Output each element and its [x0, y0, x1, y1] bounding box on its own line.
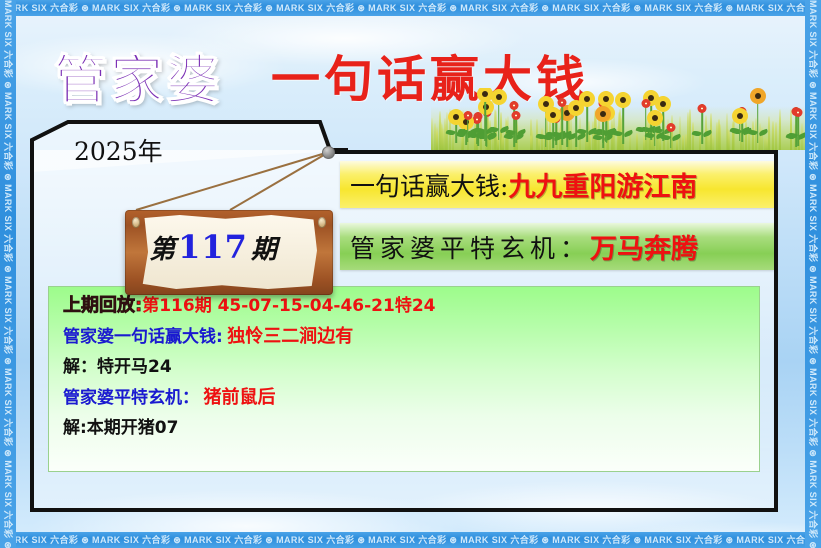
banner-green-value: 万马奔腾	[590, 227, 698, 266]
row-replay: 上期回放:第116期 45-07-15-04-46-21特24	[63, 297, 759, 316]
riddle-answer: 解:本期开猪07	[63, 418, 178, 438]
brand-logo: 管家婆	[54, 38, 222, 114]
banner-yellow-label: 一句话赢大钱:	[350, 167, 508, 203]
phrase-label: 管家婆一句话赢大钱:	[63, 327, 223, 347]
marquee-text-left: MARK SIX 六合彩 ⊛ MARK SIX 六合彩 ⊛ MARK SIX 六…	[0, 0, 16, 548]
row-riddle: 管家婆平特玄机： 猪前鼠后	[63, 389, 759, 408]
riddle-label: 管家婆平特玄机：	[63, 388, 199, 408]
marquee-text-bottom: MARK SIX 六合彩 ⊛ MARK SIX 六合彩 ⊛ MARK SIX 六…	[0, 535, 821, 545]
marquee-text-right: MARK SIX 六合彩 ⊛ MARK SIX 六合彩 ⊛ MARK SIX 六…	[805, 0, 821, 548]
replay-value: 第116期 45-07-15-04-46-21特24	[142, 296, 435, 316]
banner-yellow-value: 九九重阳游江南	[508, 165, 697, 204]
phrase-answer: 解：特开马24	[63, 357, 172, 377]
marquee-border-bottom: MARK SIX 六合彩 ⊛ MARK SIX 六合彩 ⊛ MARK SIX 六…	[0, 532, 821, 548]
marquee-text-top: MARK SIX 六合彩 ⊛ MARK SIX 六合彩 ⊛ MARK SIX 六…	[0, 3, 821, 13]
poster-page: MARK SIX 六合彩 ⊛ MARK SIX 六合彩 ⊛ MARK SIX 六…	[0, 0, 821, 548]
issue-number-group: 第 117 期	[125, 210, 301, 284]
phrase-value: 独怜三二涧边有	[227, 326, 353, 347]
issue-suffix: 期	[251, 229, 277, 266]
frame-top-rule	[330, 150, 778, 154]
main-frame: 2025年 第 117 期 一句话赢大钱: 九九重阳游江南 管家婆平特玄机： 万…	[30, 120, 778, 512]
banner-yellow: 一句话赢大钱: 九九重阳游江南	[340, 161, 774, 208]
banner-green: 管家婆平特玄机： 万马奔腾	[340, 223, 774, 270]
row-riddle-answer: 解:本期开猪07	[63, 420, 759, 438]
row-phrase: 管家婆一句话赢大钱: 独怜三二涧边有	[63, 328, 759, 347]
banner-green-label: 管家婆平特玄机：	[350, 229, 590, 265]
replay-label: 上期回放:	[63, 295, 142, 316]
marquee-border-top: MARK SIX 六合彩 ⊛ MARK SIX 六合彩 ⊛ MARK SIX 六…	[0, 0, 821, 16]
wooden-sign: 第 117 期	[125, 210, 333, 295]
nail-icon	[322, 146, 335, 159]
issue-number: 117	[178, 228, 248, 266]
issue-prefix: 第	[149, 229, 175, 266]
riddle-value: 猪前鼠后	[203, 387, 275, 408]
row-phrase-answer: 解：特开马24	[63, 359, 759, 377]
marquee-border-left: MARK SIX 六合彩 ⊛ MARK SIX 六合彩 ⊛ MARK SIX 六…	[0, 0, 16, 548]
content-box: 上期回放:第116期 45-07-15-04-46-21特24 管家婆一句话赢大…	[48, 286, 760, 472]
flower-icon	[794, 108, 803, 146]
grass-blade-icon	[779, 109, 781, 150]
marquee-border-right: MARK SIX 六合彩 ⊛ MARK SIX 六合彩 ⊛ MARK SIX 六…	[805, 0, 821, 548]
